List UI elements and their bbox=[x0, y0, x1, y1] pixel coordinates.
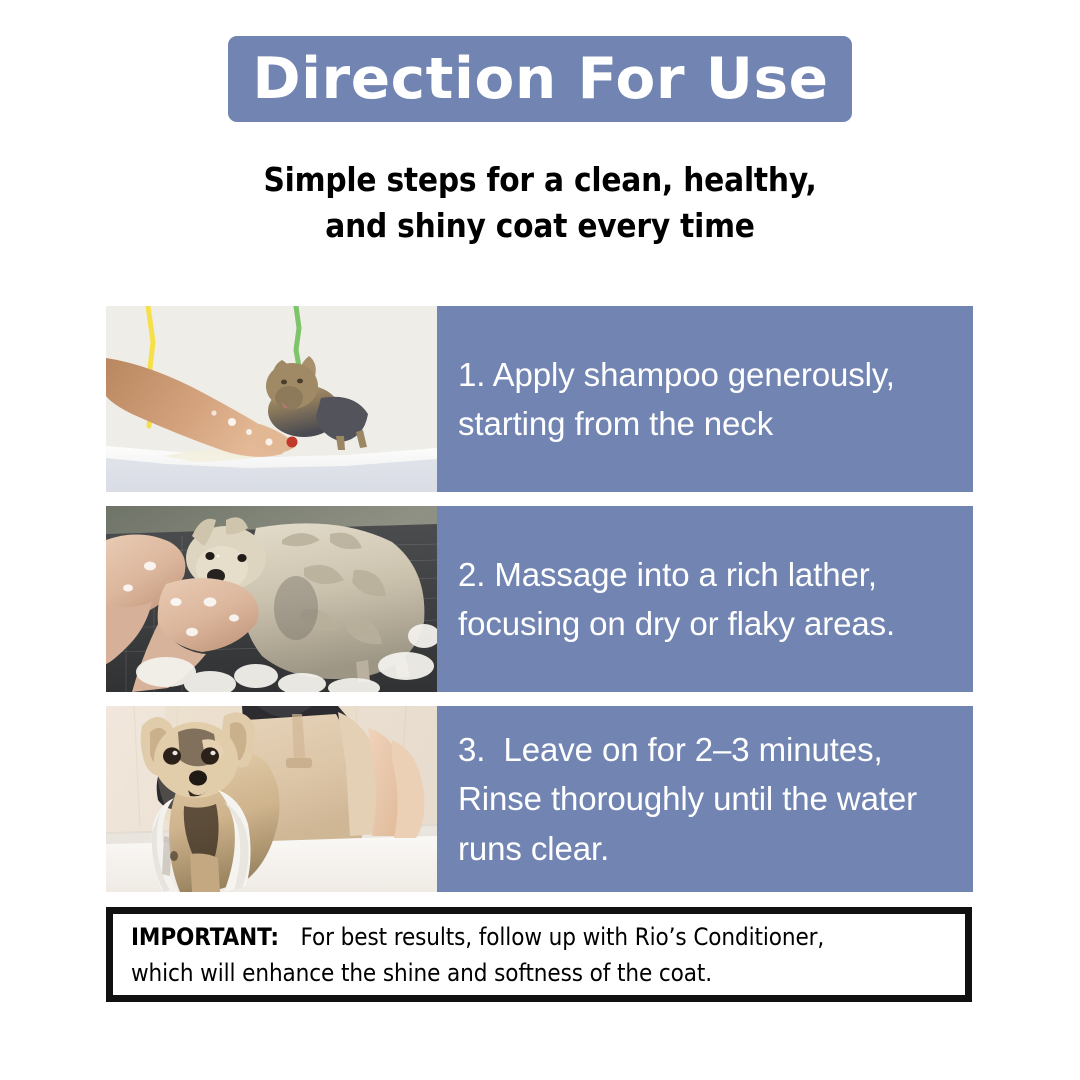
important-note-label: IMPORTANT: bbox=[131, 923, 294, 951]
step-1-text: 1. Apply shampoo generously, starting fr… bbox=[437, 306, 973, 492]
step-row: 3. Leave on for 2–3 minutes, Rinse thoro… bbox=[106, 706, 973, 892]
page-title: Direction For Use bbox=[252, 51, 828, 108]
step-2-text: 2. Massage into a rich lather, focusing … bbox=[437, 506, 973, 692]
important-note-body-line-2: which will enhance the shine and softnes… bbox=[131, 959, 712, 987]
step-row: 1. Apply shampoo generously, starting fr… bbox=[106, 306, 973, 492]
steps-list: 1. Apply shampoo generously, starting fr… bbox=[106, 306, 973, 892]
infographic-page: Direction For Use Simple steps for a cle… bbox=[0, 0, 1080, 1080]
step-2-photo bbox=[106, 506, 437, 692]
step-3-text: 3. Leave on for 2–3 minutes, Rinse thoro… bbox=[437, 706, 973, 892]
important-note-text: IMPORTANT: For best results, follow up w… bbox=[113, 919, 838, 991]
title-banner: Direction For Use bbox=[228, 36, 852, 122]
step-row: 2. Massage into a rich lather, focusing … bbox=[106, 506, 973, 692]
important-note-body-line-1: For best results, follow up with Rio’s C… bbox=[301, 923, 825, 951]
subtitle-line-1: Simple steps for a clean, healthy, bbox=[263, 160, 816, 199]
step-1-photo bbox=[106, 306, 437, 492]
important-note-box: IMPORTANT: For best results, follow up w… bbox=[106, 907, 972, 1002]
step-3-photo bbox=[106, 706, 437, 892]
subtitle-line-2: and shiny coat every time bbox=[0, 203, 1080, 249]
page-subtitle: Simple steps for a clean, healthy, and s… bbox=[0, 157, 1080, 248]
